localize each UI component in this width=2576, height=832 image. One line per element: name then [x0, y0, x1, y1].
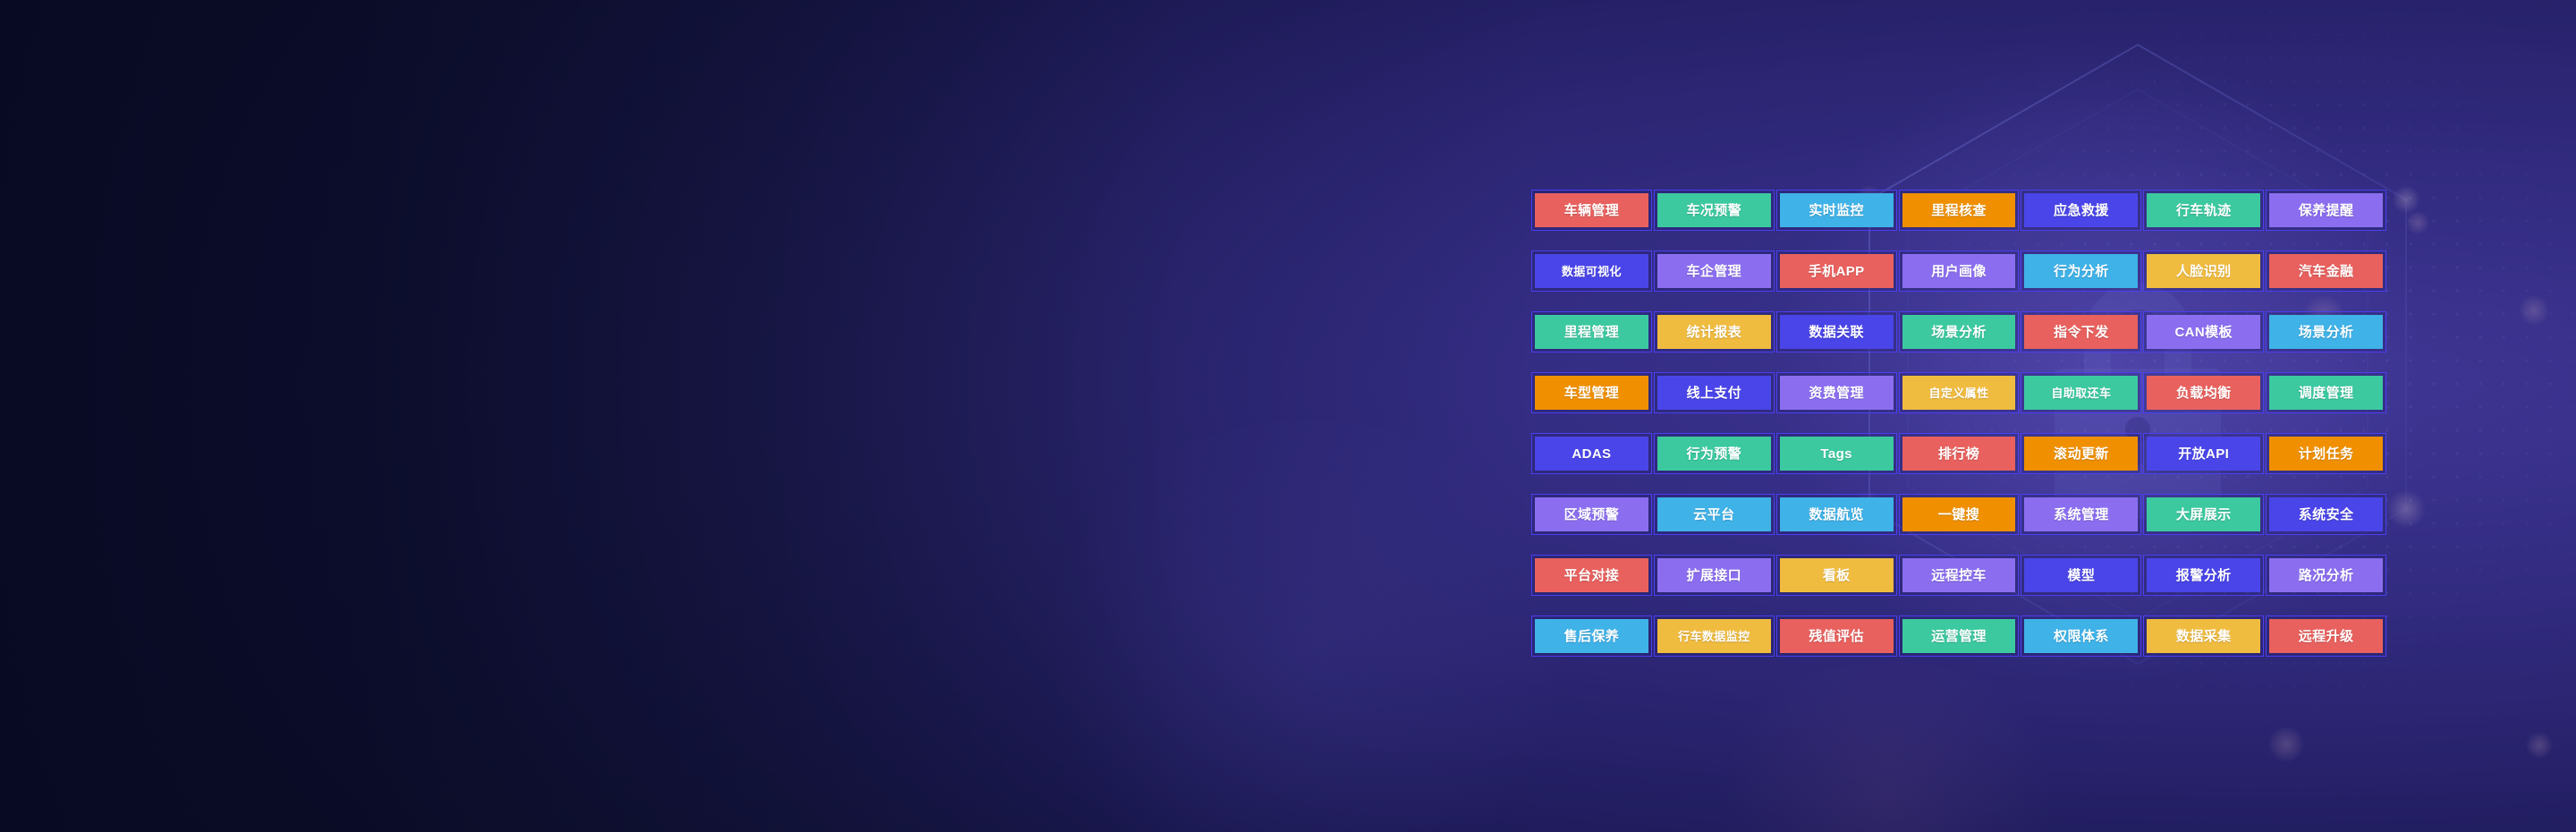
feature-tile[interactable]: 数据可视化 [1531, 250, 1652, 292]
feature-tile[interactable]: 行车轨迹 [2143, 190, 2264, 231]
feature-tile-label: 用户画像 [1902, 254, 2016, 288]
feature-tile[interactable]: 区域预警 [1531, 494, 1652, 535]
feature-tile[interactable]: 平台对接 [1531, 555, 1652, 596]
feature-tile-label: 汽车金融 [2269, 254, 2383, 288]
feature-tile-label: 里程管理 [1535, 315, 1648, 349]
feature-tile-label: 数据采集 [2147, 619, 2260, 653]
feature-tile-label: 调度管理 [2269, 376, 2383, 410]
feature-tile-label: 自助取还车 [2024, 376, 2138, 410]
feature-tile-label: 权限体系 [2024, 619, 2138, 653]
feature-tile-label: 手机APP [1780, 254, 1894, 288]
feature-tile[interactable]: 数据航览 [1776, 494, 1897, 535]
feature-tile-label: 数据可视化 [1535, 254, 1648, 288]
feature-tile[interactable]: 大屏展示 [2143, 494, 2264, 535]
feature-tile-label: 滚动更新 [2024, 437, 2138, 471]
feature-tile[interactable]: 场景分析 [2266, 311, 2386, 352]
feature-tile[interactable]: 系统安全 [2266, 494, 2386, 535]
feature-tile[interactable]: 汽车金融 [2266, 250, 2386, 292]
feature-tile-label: 路况分析 [2269, 558, 2383, 592]
feature-tile-label: 数据关联 [1780, 315, 1894, 349]
feature-tile[interactable]: 行为分析 [2021, 250, 2141, 292]
feature-tile[interactable]: 车辆管理 [1531, 190, 1652, 231]
feature-tile-label: 数据航览 [1780, 497, 1894, 531]
feature-tile-label: CAN模板 [2147, 315, 2260, 349]
feature-tile[interactable]: 线上支付 [1654, 372, 1775, 413]
feature-tile-label: 残值评估 [1780, 619, 1894, 653]
feature-tile-label: 平台对接 [1535, 558, 1648, 592]
feature-tile-label: 系统管理 [2024, 497, 2138, 531]
feature-tile[interactable]: 手机APP [1776, 250, 1897, 292]
feature-tile[interactable]: 运营管理 [1899, 616, 2020, 657]
feature-tile-label: 保养提醒 [2269, 193, 2383, 227]
feature-tile[interactable]: 里程核查 [1899, 190, 2020, 231]
feature-tile[interactable]: 权限体系 [2021, 616, 2141, 657]
feature-tile[interactable]: 计划任务 [2266, 433, 2386, 474]
feature-tile[interactable]: 路况分析 [2266, 555, 2386, 596]
feature-tile-label: 行为分析 [2024, 254, 2138, 288]
feature-tile[interactable]: 车型管理 [1531, 372, 1652, 413]
feature-tile[interactable]: 数据关联 [1776, 311, 1897, 352]
feature-tile[interactable]: 模型 [2021, 555, 2141, 596]
feature-tile[interactable]: 排行榜 [1899, 433, 2020, 474]
feature-tile-label: 扩展接口 [1657, 558, 1771, 592]
feature-tile[interactable]: 残值评估 [1776, 616, 1897, 657]
feature-tile[interactable]: 远程升级 [2266, 616, 2386, 657]
feature-tile[interactable]: 报警分析 [2143, 555, 2264, 596]
feature-tile[interactable]: CAN模板 [2143, 311, 2264, 352]
feature-tile[interactable]: 行车数据监控 [1654, 616, 1775, 657]
feature-tile[interactable]: Tags [1776, 433, 1897, 474]
feature-tile-label: 计划任务 [2269, 437, 2383, 471]
feature-tile-label: 云平台 [1657, 497, 1771, 531]
feature-tile[interactable]: 实时监控 [1776, 190, 1897, 231]
feature-tile[interactable]: 售后保养 [1531, 616, 1652, 657]
feature-tile-label: 区域预警 [1535, 497, 1648, 531]
feature-tile[interactable]: 开放API [2143, 433, 2264, 474]
screen-root: 车辆管理车况预警实时监控里程核查应急救援行车轨迹保养提醒数据可视化车企管理手机A… [0, 0, 2576, 832]
feature-tile-label: 售后保养 [1535, 619, 1648, 653]
feature-tile-label: 排行榜 [1902, 437, 2016, 471]
feature-tile-label: 系统安全 [2269, 497, 2383, 531]
feature-tile-label: 场景分析 [2269, 315, 2383, 349]
feature-tile-label: 一键搜 [1902, 497, 2016, 531]
feature-tile[interactable]: 资费管理 [1776, 372, 1897, 413]
feature-tile-label: 里程核查 [1902, 193, 2016, 227]
feature-tile[interactable]: 看板 [1776, 555, 1897, 596]
feature-tile[interactable]: 里程管理 [1531, 311, 1652, 352]
feature-tile-label: 指令下发 [2024, 315, 2138, 349]
feature-tile-label: 看板 [1780, 558, 1894, 592]
feature-tile[interactable]: 滚动更新 [2021, 433, 2141, 474]
feature-tile[interactable]: 统计报表 [1654, 311, 1775, 352]
feature-tile[interactable]: 数据采集 [2143, 616, 2264, 657]
feature-tile[interactable]: 云平台 [1654, 494, 1775, 535]
feature-tile-label: 人脸识别 [2147, 254, 2260, 288]
feature-tile[interactable]: 场景分析 [1899, 311, 2020, 352]
feature-tile[interactable]: 应急救援 [2021, 190, 2141, 231]
feature-tile-label: 车型管理 [1535, 376, 1648, 410]
feature-tile[interactable]: 扩展接口 [1654, 555, 1775, 596]
feature-tile[interactable]: 系统管理 [2021, 494, 2141, 535]
feature-tile-grid: 车辆管理车况预警实时监控里程核查应急救援行车轨迹保养提醒数据可视化车企管理手机A… [1531, 190, 2386, 657]
feature-tile[interactable]: 自助取还车 [2021, 372, 2141, 413]
feature-tile[interactable]: 人脸识别 [2143, 250, 2264, 292]
feature-tile-label: 负载均衡 [2147, 376, 2260, 410]
feature-tile[interactable]: 用户画像 [1899, 250, 2020, 292]
feature-tile-label: 车企管理 [1657, 254, 1771, 288]
feature-tile-label: 车况预警 [1657, 193, 1771, 227]
feature-tile-label: 模型 [2024, 558, 2138, 592]
feature-tile-label: 实时监控 [1780, 193, 1894, 227]
feature-tile-label: 应急救援 [2024, 193, 2138, 227]
feature-tile[interactable]: ADAS [1531, 433, 1652, 474]
feature-tile-label: 线上支付 [1657, 376, 1771, 410]
feature-tile-label: 场景分析 [1902, 315, 2016, 349]
feature-tile-label: 行车数据监控 [1657, 619, 1771, 653]
feature-tile[interactable]: 行为预警 [1654, 433, 1775, 474]
feature-tile[interactable]: 远程控车 [1899, 555, 2020, 596]
feature-tile[interactable]: 负载均衡 [2143, 372, 2264, 413]
feature-tile[interactable]: 保养提醒 [2266, 190, 2386, 231]
feature-tile[interactable]: 车企管理 [1654, 250, 1775, 292]
feature-tile-label: 大屏展示 [2147, 497, 2260, 531]
feature-tile-label: 开放API [2147, 437, 2260, 471]
feature-tile-label: 统计报表 [1657, 315, 1771, 349]
feature-tile[interactable]: 指令下发 [2021, 311, 2141, 352]
feature-tile-label: 车辆管理 [1535, 193, 1648, 227]
feature-tile-label: 行为预警 [1657, 437, 1771, 471]
feature-tile-label: 运营管理 [1902, 619, 2016, 653]
feature-tile-label: 行车轨迹 [2147, 193, 2260, 227]
feature-tile-label: 远程升级 [2269, 619, 2383, 653]
feature-tile-label: 自定义属性 [1902, 376, 2016, 410]
feature-tile-label: Tags [1780, 437, 1894, 471]
feature-tile[interactable]: 车况预警 [1654, 190, 1775, 231]
feature-tile-label: 报警分析 [2147, 558, 2260, 592]
feature-tile-label: ADAS [1535, 437, 1648, 471]
feature-tile-label: 远程控车 [1902, 558, 2016, 592]
feature-tile[interactable]: 调度管理 [2266, 372, 2386, 413]
feature-tile-label: 资费管理 [1780, 376, 1894, 410]
feature-tile[interactable]: 一键搜 [1899, 494, 2020, 535]
feature-tile[interactable]: 自定义属性 [1899, 372, 2020, 413]
